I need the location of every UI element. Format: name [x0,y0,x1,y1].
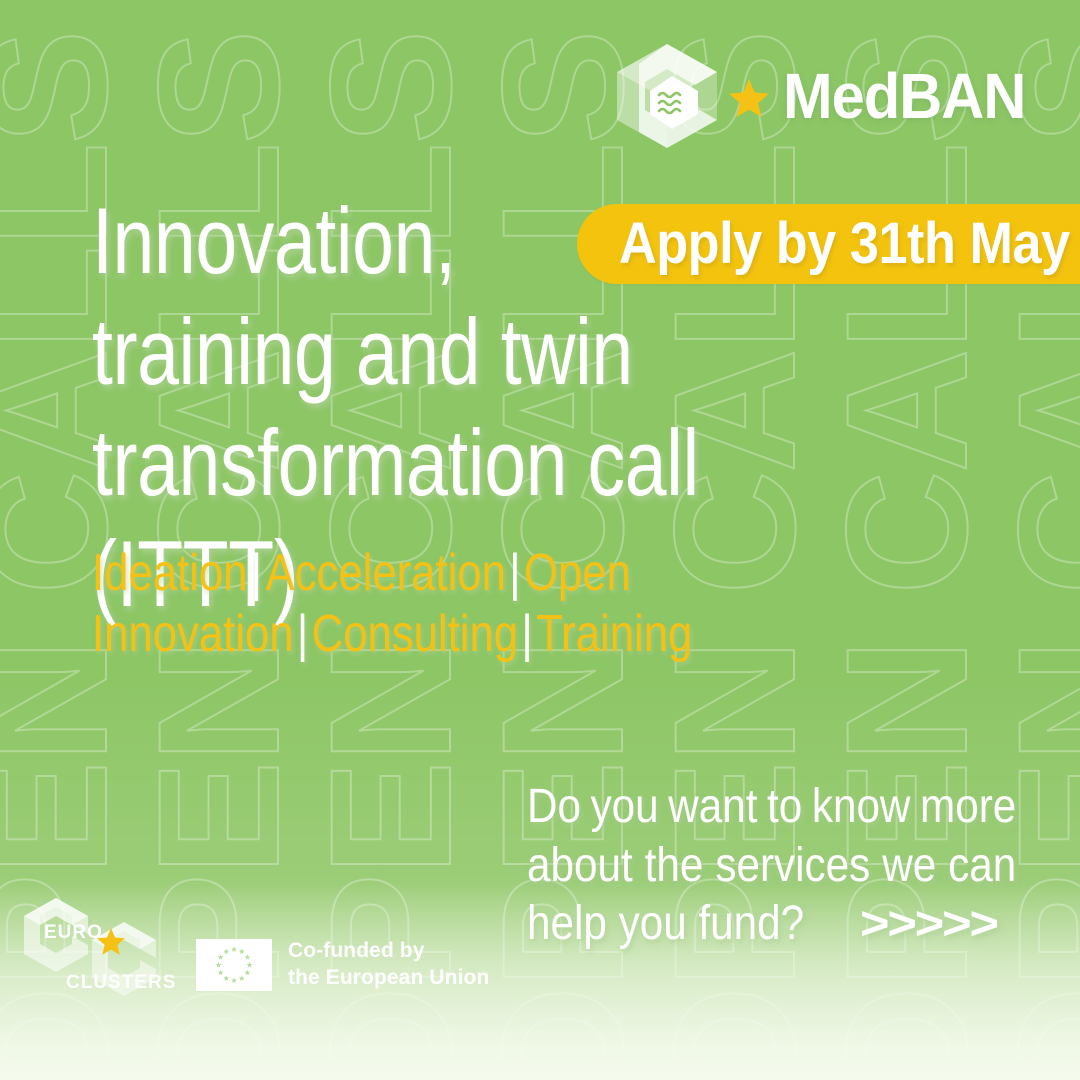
cta-question-line-1: Doyouwanttoknowmore [527,778,1016,837]
cta-question-block: Doyouwanttoknowmore abouttheservicesweca… [527,778,958,954]
service-item: Ideation [92,544,247,602]
services-list: Ideation|Acceleration|Open Innovation|Co… [92,543,831,665]
svg-text:EURO: EURO [44,922,103,943]
cta-word: know [812,778,911,837]
poster-canvas: OPEN CALLS OPEN CALLSOPEN CALLS OPEN CAL… [0,0,1080,1080]
cta-word: you [591,778,659,837]
apply-deadline-badge[interactable]: Apply by 31th May [577,204,1080,284]
brand-lockup: MedBAN [609,38,1044,154]
cta-word: more [920,778,1016,837]
apply-deadline-label: Apply by 31th May [619,215,1070,273]
eu-flag-icon [196,939,272,991]
star-icon [727,76,771,120]
cta-question-line-2: abouttheserviceswecan [527,837,1016,896]
service-item: Training [536,605,692,663]
cta-word: services [715,837,870,896]
service-separator: | [247,544,265,602]
cta-word: to [767,778,802,837]
service-separator: | [518,605,536,663]
cofunded-label: Co-funded by the European Union [288,938,489,992]
service-item: Consulting [312,605,518,663]
cta-word: we [882,837,936,896]
cta-question-line-3: help you fund? >>>>> [527,895,1016,954]
cta-word: the [645,837,704,896]
service-separator: | [294,605,312,663]
cta-word: Do [527,778,581,837]
service-separator [692,605,699,663]
medban-cube-logo [609,38,725,154]
service-separator: | [506,544,524,602]
cofunded-lockup: Co-funded by the European Union [196,938,489,992]
euroclusters-logo: EURO CLUSTERS [14,892,192,1002]
cta-word: about [527,837,633,896]
cta-word: want [668,778,757,837]
chevrons-right-icon[interactable]: >>>>> [860,895,997,951]
svg-text:CLUSTERS: CLUSTERS [66,972,176,993]
cta-word: can [948,837,1016,896]
service-item: Acceleration [266,544,506,602]
brand-name: MedBAN [783,64,1025,128]
cta-question-text: help you fund? [527,895,804,954]
